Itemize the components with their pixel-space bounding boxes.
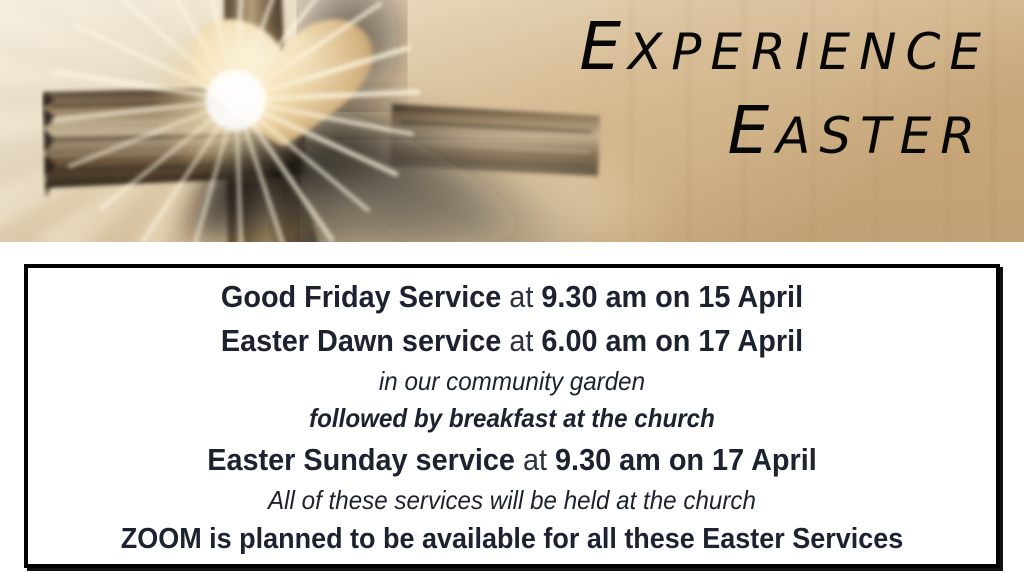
note-zoom: ZOOM is planned to be available for all … <box>71 525 953 554</box>
service-line-good-friday: Good Friday Service at 9.30 am on 15 Apr… <box>71 281 953 312</box>
easter-sunday-time: 9.30 am on 17 April <box>555 442 817 477</box>
note-breakfast: followed by breakfast at the church <box>71 405 953 431</box>
note-community-garden: in our community garden <box>71 368 953 394</box>
service-line-easter-dawn: Easter Dawn service at 6.00 am on 17 Apr… <box>71 325 953 356</box>
good-friday-at: at <box>509 279 541 314</box>
easter-sunday-at: at <box>523 442 555 477</box>
wooden-cross-with-glowing-heart-icon <box>0 0 1024 242</box>
good-friday-title: Good Friday Service <box>221 279 509 314</box>
easter-dawn-title: Easter Dawn service <box>221 323 509 358</box>
note-venue: All of these services will be held at th… <box>71 487 953 513</box>
easter-dawn-at: at <box>509 323 541 358</box>
easter-banner: EXPERIENCE EASTER <box>0 0 1024 242</box>
service-times-box: Good Friday Service at 9.30 am on 15 Apr… <box>24 264 1000 568</box>
good-friday-time: 9.30 am on 15 April <box>541 279 803 314</box>
banner-box-spacer <box>0 242 1024 264</box>
easter-dawn-time: 6.00 am on 17 April <box>541 323 803 358</box>
service-line-easter-sunday: Easter Sunday service at 9.30 am on 17 A… <box>71 444 953 475</box>
easter-sunday-title: Easter Sunday service <box>207 442 523 477</box>
